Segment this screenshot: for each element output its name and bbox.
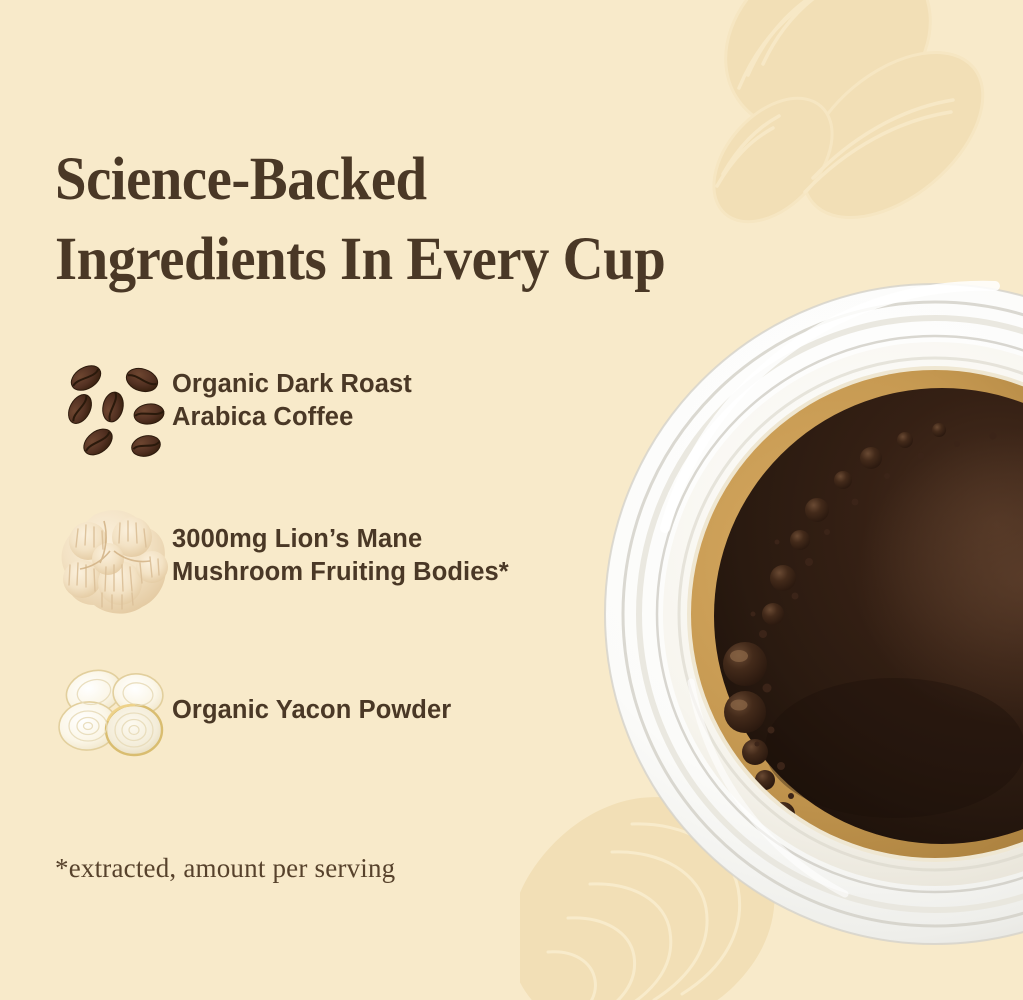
page-title: Science-Backed Ingredients In Every Cup [55,140,799,300]
list-item: Organic Dark Roast Arabica Coffee [50,352,610,507]
coffee-cup-top-down-photo [595,278,1023,958]
list-item: Organic Yacon Powder [50,662,610,817]
coffee-beans-icon [58,352,174,462]
list-item: 3000mg Lion’s Mane Mushroom Fruiting Bod… [50,507,610,662]
ingredient-label: Organic Dark Roast Arabica Coffee [172,368,602,434]
footnote-text: *extracted, amount per serving [55,853,395,884]
ingredient-label: 3000mg Lion’s Mane Mushroom Fruiting Bod… [172,523,602,589]
ingredient-label: Organic Yacon Powder [172,694,602,727]
ingredients-promo-panel: Science-Backed Ingredients In Every Cup [0,0,1023,1000]
ingredient-list: Organic Dark Roast Arabica Coffee [50,352,610,817]
lions-mane-mushroom-icon [58,507,174,617]
yacon-root-slices-icon [58,662,174,772]
